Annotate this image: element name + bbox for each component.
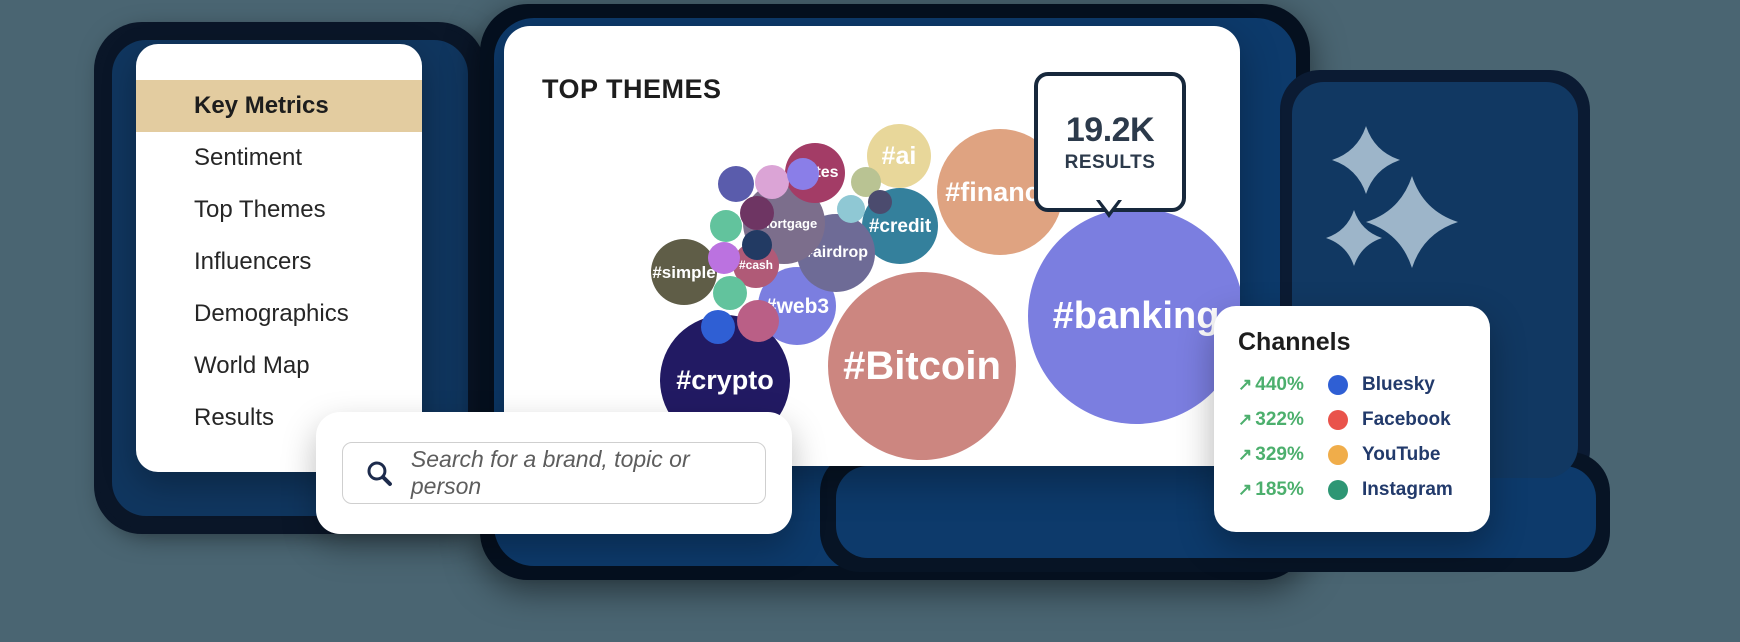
results-label: RESULTS <box>1065 152 1156 174</box>
bubble-unlabeled[interactable] <box>740 196 774 230</box>
bubble-label: #banking <box>1053 297 1220 335</box>
sidebar-item-label: Influencers <box>194 248 311 276</box>
channel-row[interactable]: ↗440%Bluesky <box>1238 367 1490 402</box>
channels-title: Channels <box>1238 328 1490 357</box>
channel-growth-value: 322% <box>1255 409 1304 431</box>
bubble-banking[interactable]: #banking <box>1028 208 1240 424</box>
trend-up-arrow-icon: ↗ <box>1238 445 1252 465</box>
sparkle-star-icon <box>1326 210 1382 266</box>
bubble-Bitcoin[interactable]: #Bitcoin <box>828 272 1016 460</box>
sidebar-item-influencers[interactable]: Influencers <box>136 236 422 288</box>
sparkle-star-icon <box>1366 176 1458 268</box>
bubble-unlabeled[interactable] <box>837 195 865 223</box>
sidebar-panel: Key MetricsSentimentTop ThemesInfluencer… <box>136 44 422 472</box>
results-count: 19.2K <box>1066 111 1154 150</box>
bubble-simple[interactable]: #simple <box>651 239 717 305</box>
channel-growth: ↗322% <box>1238 409 1328 431</box>
sidebar-item-label: Results <box>194 404 274 432</box>
bubble-unlabeled[interactable] <box>713 276 747 310</box>
sidebar-item-key-metrics[interactable]: Key Metrics <box>136 80 422 132</box>
bubble-unlabeled[interactable] <box>737 300 779 342</box>
sidebar-item-world-map[interactable]: World Map <box>136 340 422 392</box>
channel-color-dot-icon <box>1328 480 1348 500</box>
sidebar-item-label: Top Themes <box>194 196 326 224</box>
channel-color-dot-icon <box>1328 445 1348 465</box>
channels-list: ↗440%Bluesky↗322%Facebook↗329%YouTube↗18… <box>1238 367 1490 507</box>
channel-growth: ↗440% <box>1238 374 1328 396</box>
channel-row[interactable]: ↗322%Facebook <box>1238 402 1490 437</box>
callout-pointer-inner <box>1099 199 1119 212</box>
channel-name: Facebook <box>1362 409 1451 431</box>
bubble-unlabeled[interactable] <box>868 190 892 214</box>
trend-up-arrow-icon: ↗ <box>1238 410 1252 430</box>
channel-growth: ↗329% <box>1238 444 1328 466</box>
channel-row[interactable]: ↗329%YouTube <box>1238 437 1490 472</box>
channel-growth: ↗185% <box>1238 479 1328 501</box>
bubble-label: #simple <box>652 264 715 281</box>
channel-growth-value: 329% <box>1255 444 1304 466</box>
trend-up-arrow-icon: ↗ <box>1238 375 1252 395</box>
channel-name: Instagram <box>1362 479 1453 501</box>
sidebar-nav-list: Key MetricsSentimentTop ThemesInfluencer… <box>136 44 422 444</box>
bubble-unlabeled[interactable] <box>787 158 819 190</box>
bubble-label: #crypto <box>676 367 774 394</box>
channel-color-dot-icon <box>1328 375 1348 395</box>
sidebar-item-label: Sentiment <box>194 144 302 172</box>
bubble-unlabeled[interactable] <box>742 230 772 260</box>
bubble-unlabeled[interactable] <box>710 210 742 242</box>
trend-up-arrow-icon: ↗ <box>1238 480 1252 500</box>
channel-name: YouTube <box>1362 444 1440 466</box>
sidebar-item-sentiment[interactable]: Sentiment <box>136 132 422 184</box>
sparkle-star-icon <box>1332 126 1400 194</box>
bubble-unlabeled[interactable] <box>718 166 754 202</box>
bubble-unlabeled[interactable] <box>755 165 789 199</box>
sidebar-item-label: World Map <box>194 352 310 380</box>
channel-growth-value: 440% <box>1255 374 1304 396</box>
channel-color-dot-icon <box>1328 410 1348 430</box>
search-icon <box>365 459 393 487</box>
screenshot-stage: Key MetricsSentimentTop ThemesInfluencer… <box>0 0 1740 642</box>
sidebar-item-label: Key Metrics <box>194 92 329 120</box>
sidebar-item-demographics[interactable]: Demographics <box>136 288 422 340</box>
bubble-label: #ai <box>882 144 917 169</box>
search-input[interactable]: Search for a brand, topic or person <box>342 442 766 504</box>
channels-panel: Channels ↗440%Bluesky↗322%Facebook↗329%Y… <box>1214 306 1490 532</box>
bubble-label: #cash <box>739 259 773 271</box>
bubble-label: #credit <box>869 217 931 236</box>
channel-name: Bluesky <box>1362 374 1435 396</box>
sidebar-item-label: Demographics <box>194 300 349 328</box>
channel-row[interactable]: ↗185%Instagram <box>1238 472 1490 507</box>
search-placeholder-text: Search for a brand, topic or person <box>411 446 765 500</box>
bubble-label: #Bitcoin <box>843 346 1001 386</box>
bubble-unlabeled[interactable] <box>708 242 740 274</box>
sidebar-item-top-themes[interactable]: Top Themes <box>136 184 422 236</box>
bubble-unlabeled[interactable] <box>701 310 735 344</box>
channel-growth-value: 185% <box>1255 479 1304 501</box>
results-callout: 19.2K RESULTS <box>1034 72 1186 212</box>
search-panel: Search for a brand, topic or person <box>316 412 792 534</box>
